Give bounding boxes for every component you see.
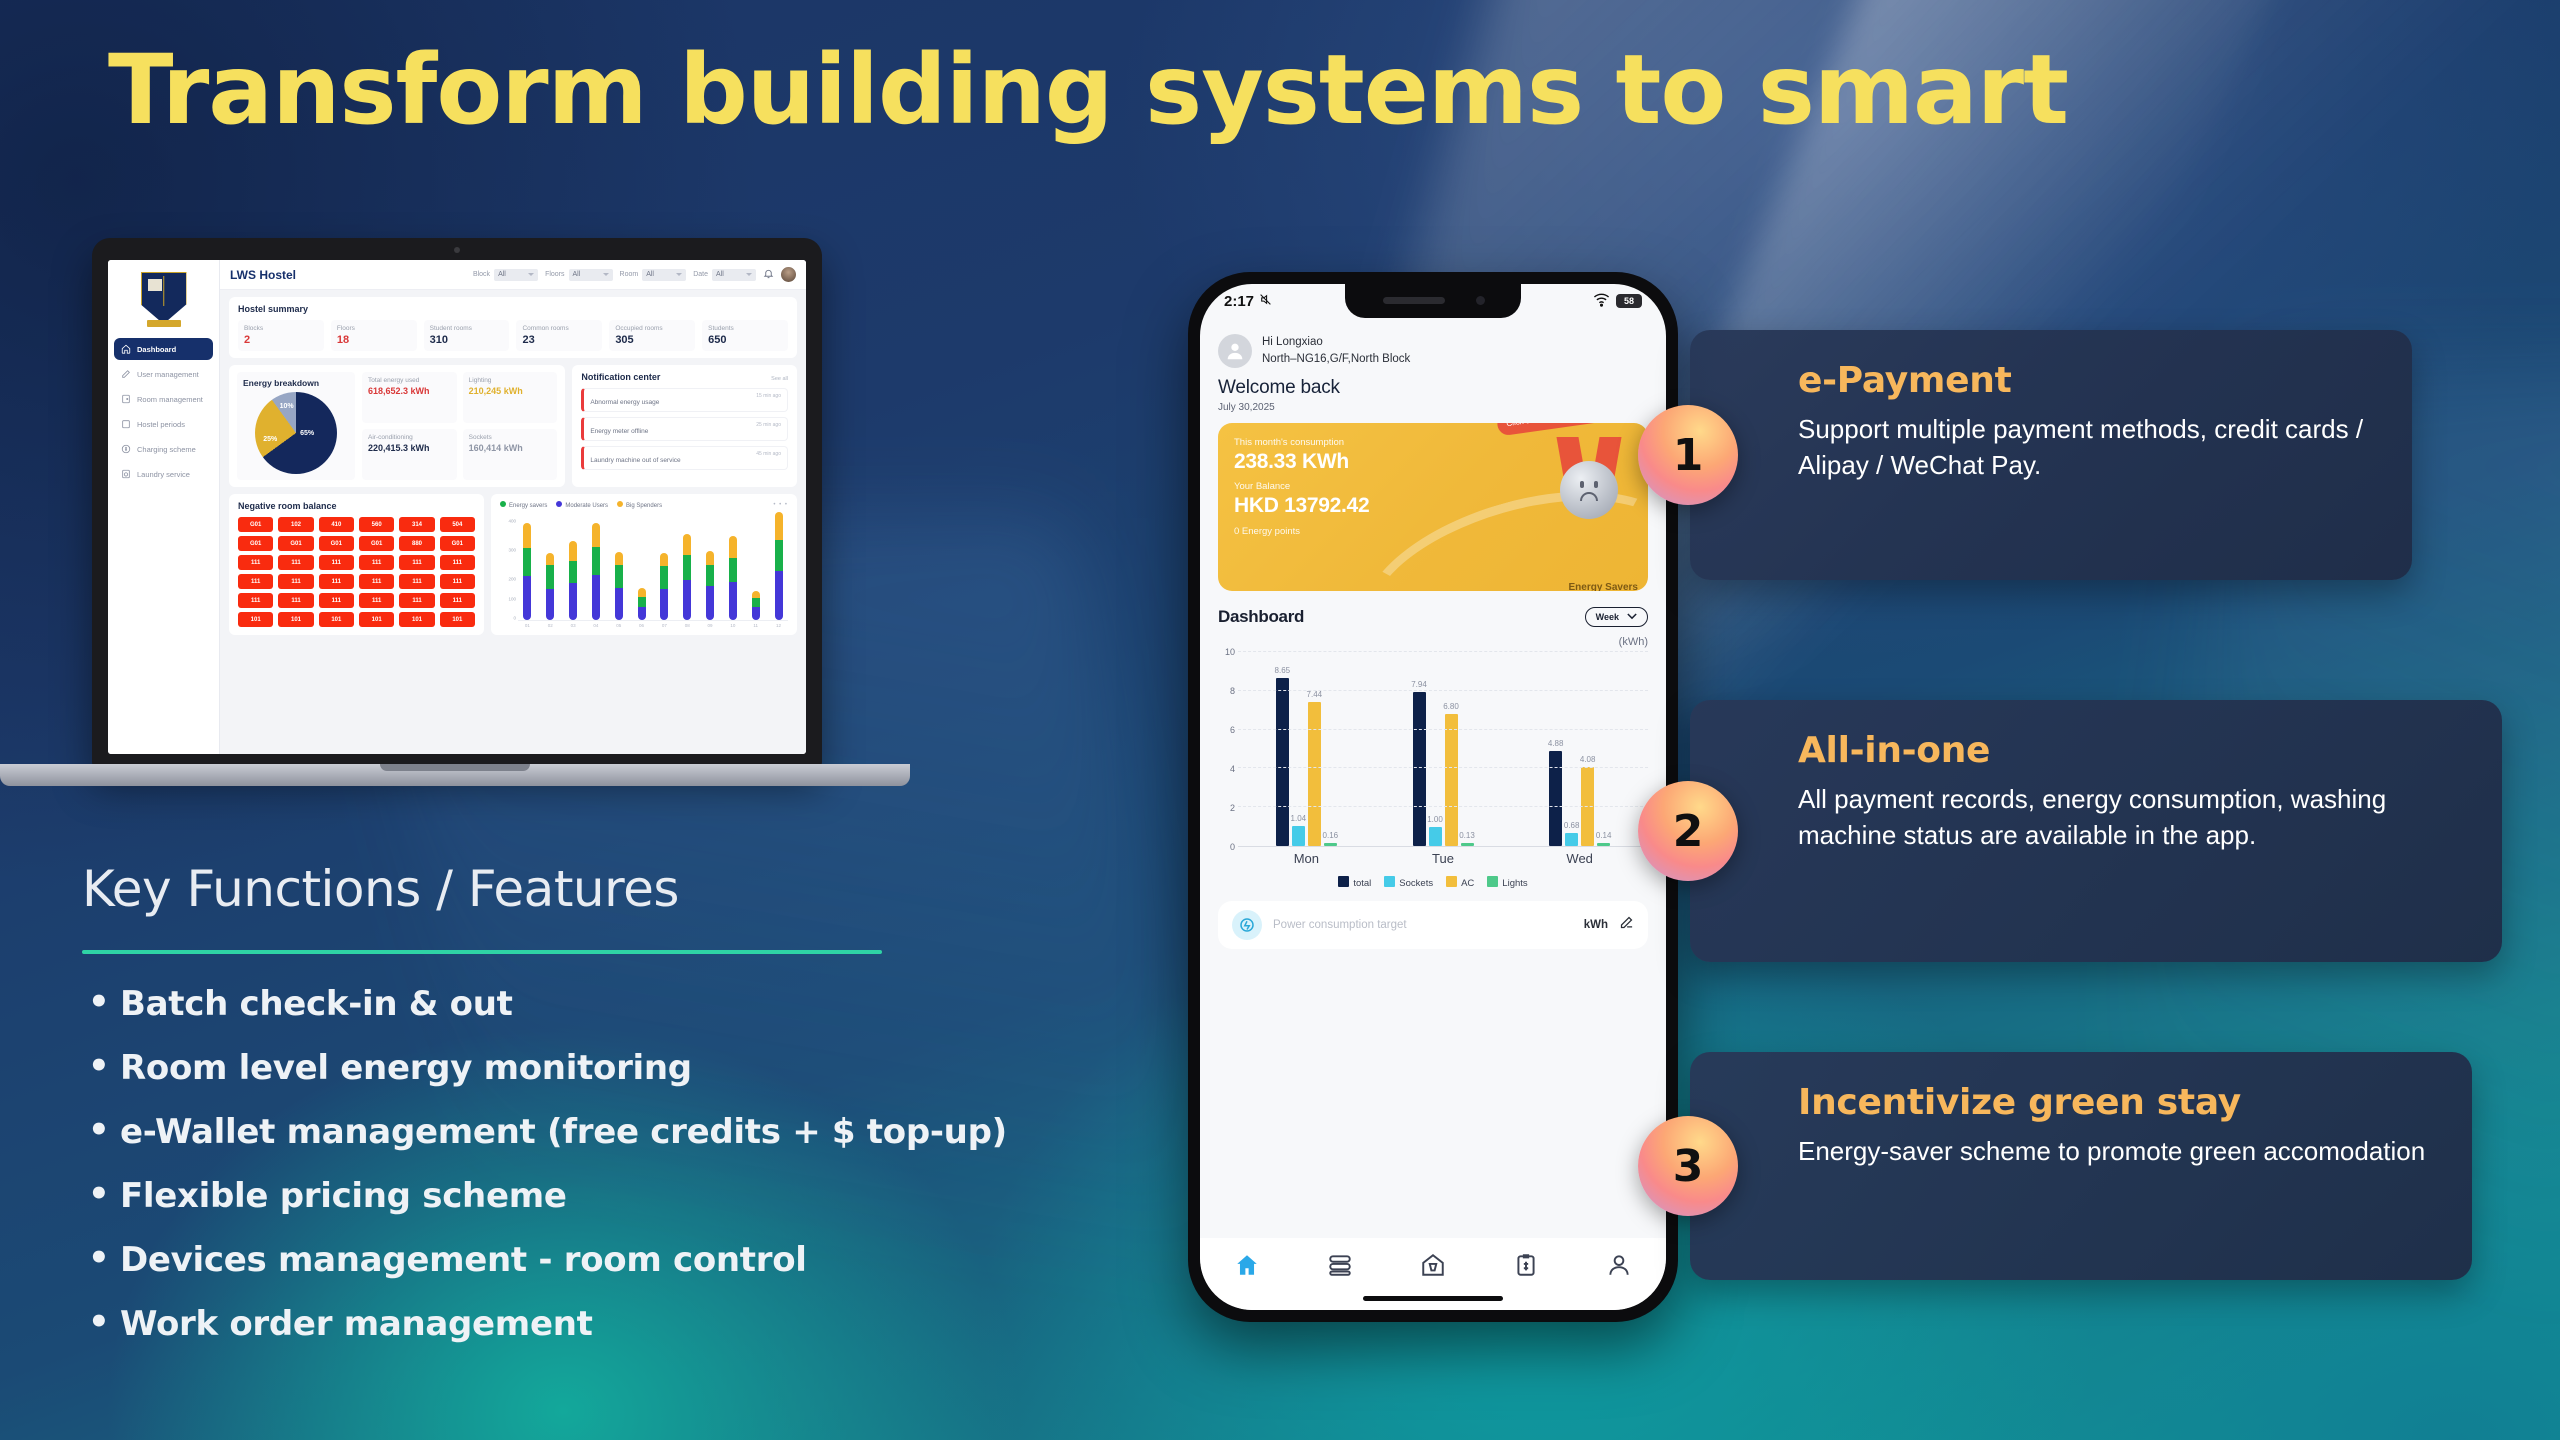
stat-label: Common rooms [522, 325, 596, 332]
key-function-item: Work order management [82, 1304, 1262, 1344]
chevron-down-icon [1627, 612, 1637, 622]
energy-pie-chart: 65% 25% 10% [255, 392, 337, 474]
pie-slice-label: 65% [300, 430, 314, 437]
stat-value: 18 [337, 334, 411, 346]
feature-card-2: 2 All-in-one All payment records, energy… [1690, 700, 2502, 962]
sidebar-item-room-management[interactable]: Room management [114, 388, 213, 410]
room-balance-cell[interactable]: 111 [359, 555, 394, 570]
filter-room[interactable]: Room All [620, 269, 687, 281]
notification-text: Energy meter offline [590, 428, 781, 435]
key-function-item: Batch check-in & out [82, 984, 1262, 1024]
filter-label: Block [473, 271, 490, 278]
laptop-mockup: Dashboard User management Room managemen… [0, 228, 920, 808]
key-function-item: e-Wallet management (free credits + $ to… [82, 1112, 1262, 1152]
energy-and-notifications-row: Energy breakdown 65% 25% 10% Total energ… [229, 365, 797, 487]
tile-label: Total energy used [368, 377, 451, 384]
welcome-date: July 30,2025 [1218, 402, 1648, 413]
filter-select[interactable]: All [642, 269, 686, 281]
chart-legend: totalSocketsACLights [1218, 876, 1648, 889]
bar-group: 7.941.006.800.13 [1375, 652, 1512, 846]
filter-label: Room [620, 271, 639, 278]
hostel-summary-card: Hostel summary Blocks 2 Floors 18 Studen… [229, 297, 797, 358]
battery-indicator: 58 [1616, 294, 1642, 308]
dashboard-title: Dashboard [1218, 607, 1304, 627]
spender-bar-column [769, 512, 788, 620]
sidebar-item-user-management[interactable]: User management [114, 363, 213, 385]
tile-value: 220,415.3 kWh [368, 443, 451, 453]
room-balance-cell[interactable]: 111 [238, 555, 273, 570]
room-balance-cell[interactable]: 880 [399, 536, 434, 551]
sidebar-item-hostel-periods[interactable]: Hostel periods [114, 413, 213, 435]
room-balance-cell[interactable]: 111 [319, 555, 354, 570]
home-icon [121, 344, 131, 354]
room-balance-cell[interactable]: 314 [399, 517, 434, 532]
sidebar-label: User management [137, 370, 199, 379]
period-selector[interactable]: Week [1585, 607, 1648, 627]
laptop-lid: Dashboard User management Room managemen… [92, 238, 822, 768]
tile-value: 160,414 kWh [469, 443, 552, 453]
home-indicator [1363, 1296, 1503, 1301]
key-function-item: Devices management - room control [82, 1240, 1262, 1280]
chart-bar: 0.14 [1597, 843, 1610, 846]
laptop-camera-icon [454, 247, 460, 253]
key-functions-section: Key Functions / Features Batch check-in … [82, 860, 1262, 1368]
gridline [1238, 690, 1648, 691]
user-location: North–NG16,G/F,North Block [1262, 351, 1410, 368]
filter-block[interactable]: Block All [473, 269, 538, 281]
avatar[interactable] [781, 267, 796, 282]
tile-value: 618,652.3 kWh [368, 386, 451, 396]
legend-label: Energy savers [509, 503, 547, 509]
summary-heading: Hostel summary [238, 304, 788, 314]
legend-energy-savers: Energy savers [500, 501, 547, 509]
stat-value: 305 [615, 334, 689, 346]
spender-bar-column [518, 523, 537, 620]
chart-bar: 7.44 [1308, 702, 1321, 846]
room-balance-cell[interactable]: 101 [440, 612, 475, 627]
room-balance-cell[interactable]: 504 [440, 517, 475, 532]
room-balance-cell[interactable]: 111 [440, 555, 475, 570]
room-balance-cell[interactable]: 111 [399, 593, 434, 608]
bar-value-label: 4.08 [1580, 755, 1596, 764]
stat-common-rooms: Common rooms 23 [516, 320, 602, 351]
notification-text: Abnormal energy usage [590, 399, 781, 406]
tab-profile[interactable] [1573, 1252, 1666, 1283]
sidebar-label: Charging scheme [137, 445, 196, 454]
y-tick-label: 4 [1230, 764, 1235, 774]
room-balance-cell[interactable]: 111 [238, 574, 273, 589]
admin-topbar: LWS Hostel Block All Floors All Room All [220, 260, 806, 290]
spender-bars [518, 512, 788, 621]
room-balance-cell[interactable]: 111 [278, 555, 313, 570]
user-edit-icon [121, 369, 131, 379]
sidebar-label: Laundry service [137, 470, 190, 479]
room-balance-cell[interactable]: G01 [238, 536, 273, 551]
bar-value-label: 0.14 [1596, 831, 1612, 840]
stat-label: Blocks [244, 325, 318, 332]
see-all-link[interactable]: See all [771, 376, 788, 382]
page-title: Transform building systems to smart [108, 40, 2468, 141]
hostel-crest-logo [141, 272, 187, 324]
chart-unit: (kWh) [1218, 636, 1648, 648]
notification-row[interactable]: 45 min ago Laundry machine out of servic… [581, 446, 788, 470]
stat-student-rooms: Student rooms 310 [424, 320, 510, 351]
period-label: Week [1596, 612, 1619, 622]
room-balance-cell[interactable]: 111 [238, 593, 273, 608]
spender-chart-plot: 400300 2001000 [500, 512, 788, 621]
filter-date[interactable]: Date All [693, 269, 756, 281]
chart-x-axis: MonTueWed [1218, 851, 1648, 866]
chart-bar: 0.13 [1461, 843, 1474, 846]
tile-air-conditioning: Air-conditioning 220,415.3 kWh [362, 429, 457, 480]
legend-item-total: total [1338, 876, 1371, 889]
spender-bar-column [609, 552, 628, 620]
chart-bar: 0.68 [1565, 833, 1578, 846]
room-balance-cell[interactable]: 111 [359, 574, 394, 589]
feature-card-3: 3 Incentivize green stay Energy-saver sc… [1690, 1052, 2472, 1280]
collect-points-bubble[interactable]: Click & collect The points [1496, 423, 1605, 436]
tile-lighting: Lighting 210,245 kWh [463, 372, 558, 423]
gridline [1238, 651, 1648, 652]
edit-icon[interactable] [1619, 915, 1634, 935]
sidebar-item-laundry-service[interactable]: Laundry service [114, 463, 213, 485]
filters-group: Block All Floors All Room All Date [473, 267, 796, 282]
spender-legend: Energy savers Moderate Users Big Spender… [500, 501, 788, 509]
washer-icon [121, 469, 131, 479]
legend-moderate-users: Moderate Users [556, 501, 608, 509]
laptop-base [0, 764, 910, 786]
spender-bar-column [723, 536, 742, 620]
phone-content: Hi Longxiao North–NG16,G/F,North Block W… [1200, 318, 1666, 949]
filter-label: Date [693, 271, 708, 278]
room-balance-cell[interactable]: 111 [319, 593, 354, 608]
spender-bar-column [586, 523, 605, 620]
phone-screen: 2:17 58 Hi Longxiao North–NG16,G/F,North… [1200, 284, 1666, 1310]
tab-records[interactable] [1293, 1252, 1386, 1283]
admin-body: Hostel summary Blocks 2 Floors 18 Studen… [220, 290, 806, 642]
room-balance-cell[interactable]: G01 [440, 536, 475, 551]
tab-payment[interactable] [1480, 1252, 1573, 1283]
feature-description: Support multiple payment methods, credit… [1798, 411, 2370, 484]
room-balance-cell[interactable]: 101 [278, 612, 313, 627]
notification-time: 25 min ago [756, 422, 781, 428]
spender-bar-column [701, 551, 720, 620]
dashboard-header: Dashboard Week [1218, 607, 1648, 627]
bar-value-label: 6.80 [1443, 702, 1459, 711]
summary-stats: Blocks 2 Floors 18 Student rooms 310 Com… [238, 320, 788, 351]
stat-value: 2 [244, 334, 318, 346]
stat-label: Students [708, 325, 782, 332]
stat-value: 310 [430, 334, 504, 346]
y-tick-label: 8 [1230, 686, 1235, 696]
records-icon [1327, 1252, 1353, 1283]
filter-label: Floors [545, 271, 564, 278]
bar-value-label: 4.88 [1548, 739, 1564, 748]
laundry-house-icon [1420, 1252, 1446, 1283]
bar-group: 8.651.047.440.16 [1238, 652, 1375, 846]
stat-value: 650 [708, 334, 782, 346]
legend-big-spenders: Big Spenders [617, 501, 662, 509]
status-time: 2:17 [1224, 293, 1254, 310]
feature-number-badge: 1 [1638, 405, 1738, 505]
gridline [1238, 729, 1648, 730]
room-balance-cell[interactable]: 111 [440, 593, 475, 608]
notification-title: Notification center [581, 372, 660, 382]
tile-label: Lighting [469, 377, 552, 384]
dollar-circle-icon [121, 444, 131, 454]
mute-icon [1259, 293, 1272, 310]
chart-more-icon[interactable]: • • • [773, 502, 788, 508]
stat-blocks: Blocks 2 [238, 320, 324, 351]
room-balance-cell[interactable]: 111 [399, 574, 434, 589]
calendar-icon [121, 419, 131, 429]
spender-bar-column [746, 591, 765, 620]
notification-time: 15 min ago [756, 393, 781, 399]
room-icon [121, 394, 131, 404]
feature-title: All-in-one [1798, 730, 2460, 771]
filter-floors[interactable]: Floors All [545, 269, 612, 281]
negative-room-grid: G01102410560314504G01G01G01G01880G011111… [238, 517, 475, 627]
room-balance-cell[interactable]: G01 [238, 517, 273, 532]
y-tick-label: 2 [1230, 803, 1235, 813]
room-balance-cell[interactable]: 111 [319, 574, 354, 589]
legend-item-sockets: Sockets [1384, 876, 1433, 889]
admin-dashboard-screen: Dashboard User management Room managemen… [108, 260, 806, 754]
x-tick-label: Tue [1375, 851, 1512, 866]
divider [82, 950, 882, 954]
tile-value: 210,245 kWh [469, 386, 552, 396]
notification-row[interactable]: 25 min ago Energy meter offline [581, 417, 788, 441]
feature-number-badge: 3 [1638, 1116, 1738, 1216]
energy-bar-chart: 0246810 8.651.047.440.167.941.006.800.13… [1218, 652, 1648, 847]
notification-header: Notification center See all [581, 372, 788, 388]
notification-text: Laundry machine out of service [590, 457, 781, 464]
tile-label: Air-conditioning [368, 434, 451, 441]
room-balance-cell[interactable]: 111 [278, 574, 313, 589]
stat-occupied-rooms: Occupied rooms 305 [609, 320, 695, 351]
key-functions-list: Batch check-in & outRoom level energy mo… [82, 984, 1262, 1344]
negative-balance-title: Negative room balance [238, 501, 475, 511]
tab-laundry[interactable] [1386, 1252, 1479, 1283]
legend-label: Big Spenders [626, 503, 662, 509]
user-info: Hi Longxiao North–NG16,G/F,North Block [1262, 334, 1410, 367]
x-tick-label: Wed [1511, 851, 1648, 866]
wifi-icon [1593, 291, 1610, 312]
notification-center-card: Notification center See all 15 min ago A… [572, 365, 797, 487]
chart-bar: 7.94 [1413, 692, 1426, 846]
notification-row[interactable]: 15 min ago Abnormal energy usage [581, 388, 788, 412]
key-functions-title: Key Functions / Features [82, 860, 1262, 918]
notification-time: 45 min ago [756, 451, 781, 457]
spender-y-axis: 400300 2001000 [500, 512, 518, 621]
room-balance-cell[interactable]: G01 [319, 536, 354, 551]
tile-label: Sockets [469, 434, 552, 441]
legend-label: Moderate Users [565, 503, 608, 509]
bar-value-label: 7.94 [1411, 680, 1427, 689]
room-balance-cell[interactable]: 410 [319, 517, 354, 532]
gridline [1238, 767, 1648, 768]
filter-select[interactable]: All [494, 269, 538, 281]
legend-item-ac: AC [1446, 876, 1474, 889]
stat-label: Occupied rooms [615, 325, 689, 332]
y-tick-label: 10 [1225, 647, 1235, 657]
front-camera-icon [1476, 296, 1485, 305]
spender-chart-card: Energy savers Moderate Users Big Spender… [491, 494, 797, 635]
sidebar-label: Room management [137, 395, 203, 404]
room-balance-cell[interactable]: G01 [278, 536, 313, 551]
energy-tiles: Total energy used 618,652.3 kWh Lighting… [362, 372, 557, 480]
chart-bar: 6.80 [1445, 714, 1458, 846]
feature-title: Incentivize green stay [1798, 1082, 2430, 1123]
energy-saver-medal-icon [1552, 437, 1626, 533]
room-balance-cell[interactable]: 101 [238, 612, 273, 627]
y-tick-label: 0 [1230, 842, 1235, 852]
gridline [1238, 806, 1648, 807]
room-balance-cell[interactable]: 111 [399, 555, 434, 570]
power-target-row[interactable]: Power consumption target kWh [1218, 901, 1648, 949]
sidebar-item-dashboard[interactable]: Dashboard [114, 338, 213, 360]
room-balance-cell[interactable]: 111 [278, 593, 313, 608]
negative-room-balance-card: Negative room balance G01102410560314504… [229, 494, 484, 635]
feature-title: e-Payment [1798, 360, 2370, 401]
bar-value-label: 0.68 [1564, 821, 1580, 830]
room-balance-cell[interactable]: 101 [319, 612, 354, 627]
stat-value: 23 [522, 334, 596, 346]
room-balance-cell[interactable]: G01 [359, 536, 394, 551]
stat-students: Students 650 [702, 320, 788, 351]
bar-value-label: 0.16 [1323, 831, 1339, 840]
room-balance-cell[interactable]: 101 [359, 612, 394, 627]
tile-total-energy: Total energy used 618,652.3 kWh [362, 372, 457, 423]
speaker-icon [1383, 297, 1445, 304]
user-greeting: Hi Longxiao [1262, 334, 1410, 351]
pie-title: Energy breakdown [243, 378, 349, 388]
status-indicators: 58 [1593, 291, 1642, 312]
chart-bar: 4.88 [1549, 751, 1562, 846]
pie-slice-label: 10% [280, 403, 294, 410]
sidebar-label: Hostel periods [137, 420, 185, 429]
bar-value-label: 1.00 [1427, 815, 1443, 824]
avatar[interactable] [1218, 334, 1252, 368]
phone-notch [1345, 284, 1521, 318]
y-tick-label: 6 [1230, 725, 1235, 735]
stat-label: Floors [337, 325, 411, 332]
sidebar-item-charging-scheme[interactable]: Charging scheme [114, 438, 213, 460]
chart-y-axis: 0246810 [1218, 652, 1238, 847]
bar-value-label: 8.65 [1275, 666, 1291, 675]
spender-bar-column [678, 534, 697, 620]
sidebar-label: Dashboard [137, 345, 176, 354]
key-function-item: Room level energy monitoring [82, 1048, 1262, 1088]
bar-value-label: 7.44 [1307, 690, 1323, 699]
chart-bar: 0.16 [1324, 843, 1337, 846]
balance-card[interactable]: This month's consumption 238.33 KWh Your… [1218, 423, 1648, 591]
tile-sockets: Sockets 160,414 kWh [463, 429, 558, 480]
spender-bar-column [541, 553, 560, 620]
spender-x-axis: 010203040506070809101112 [500, 623, 788, 628]
profile-icon [1606, 1252, 1632, 1283]
feature-number-badge: 2 [1638, 781, 1738, 881]
key-function-item: Flexible pricing scheme [82, 1176, 1262, 1216]
welcome-heading: Welcome back [1218, 377, 1648, 399]
chart-bar: 1.04 [1292, 826, 1305, 846]
bar-value-label: 0.13 [1459, 831, 1475, 840]
chart-bar: 8.65 [1276, 678, 1289, 846]
room-balance-cell[interactable]: 111 [359, 593, 394, 608]
bell-icon[interactable] [763, 268, 774, 281]
energy-pie-box: Energy breakdown 65% 25% 10% [237, 372, 355, 480]
spender-bar-column [564, 541, 583, 620]
room-balance-cell[interactable]: 111 [440, 574, 475, 589]
power-target-unit: kWh [1584, 919, 1608, 931]
pie-slice-label: 25% [263, 436, 277, 443]
legend-item-lights: Lights [1487, 876, 1527, 889]
stat-floors: Floors 18 [331, 320, 417, 351]
bottom-row: Negative room balance G01102410560314504… [229, 494, 797, 635]
filter-select[interactable]: All [712, 269, 756, 281]
admin-sidebar: Dashboard User management Room managemen… [108, 260, 220, 754]
power-target-input[interactable]: Power consumption target [1273, 919, 1573, 931]
energy-breakdown-card: Energy breakdown 65% 25% 10% Total energ… [229, 365, 565, 487]
bar-group: 4.880.684.080.14 [1511, 652, 1648, 846]
filter-select[interactable]: All [569, 269, 613, 281]
payment-icon [1513, 1252, 1539, 1283]
chart-bar: 1.00 [1429, 827, 1442, 846]
hostel-title: LWS Hostel [230, 268, 296, 282]
admin-main: LWS Hostel Block All Floors All Room All [220, 260, 806, 754]
chart-bar-groups: 8.651.047.440.167.941.006.800.134.880.68… [1238, 652, 1648, 846]
user-row[interactable]: Hi Longxiao North–NG16,G/F,North Block [1218, 334, 1648, 368]
spender-bar-column [655, 553, 674, 620]
energy-savers-label: Energy Savers [1569, 582, 1639, 591]
room-balance-cell[interactable]: 560 [359, 517, 394, 532]
chart-plot-area: 8.651.047.440.167.941.006.800.134.880.68… [1238, 652, 1648, 847]
stat-label: Student rooms [430, 325, 504, 332]
feature-description: Energy-saver scheme to promote green acc… [1798, 1133, 2430, 1169]
feature-description: All payment records, energy consumption,… [1798, 781, 2460, 854]
admin-nav-list: Dashboard User management Room managemen… [114, 338, 213, 485]
spender-bar-column [632, 588, 651, 620]
feature-card-1: 1 e-Payment Support multiple payment met… [1690, 330, 2412, 580]
room-balance-cell[interactable]: 101 [399, 612, 434, 627]
bar-value-label: 1.04 [1291, 814, 1307, 823]
room-balance-cell[interactable]: 102 [278, 517, 313, 532]
